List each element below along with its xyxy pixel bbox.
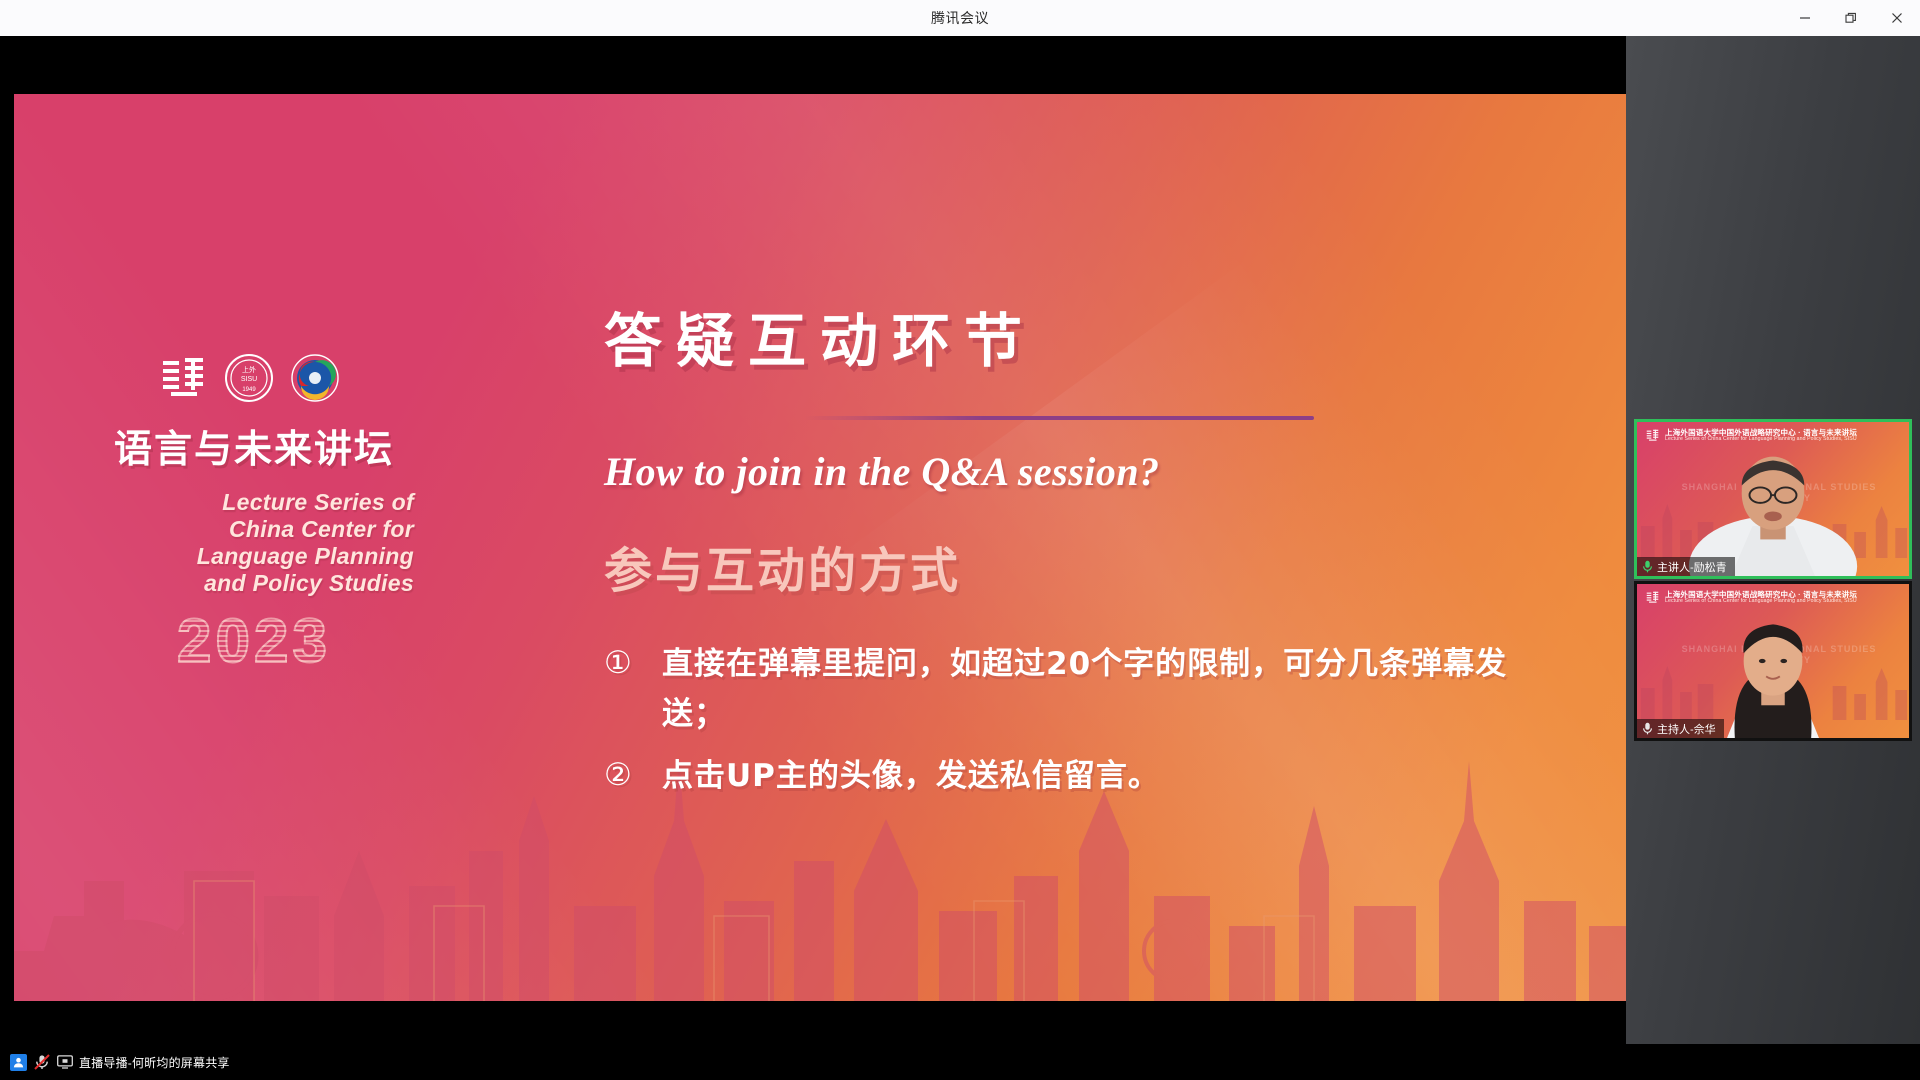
forum-title-cn: 语言与未来讲坛 (94, 418, 414, 473)
yu-seal-logo (157, 352, 209, 404)
ccpls-globe-logo (289, 352, 341, 404)
brand-logo-row: 上外 SISU 1949 (94, 352, 414, 404)
slide-divider (804, 416, 1314, 420)
window-title: 腾讯会议 (931, 8, 989, 28)
meeting-window: 腾讯会议 (0, 0, 1920, 1080)
svg-text:SISU: SISU (241, 376, 257, 383)
slide-content: 答疑互动环节 How to join in the Q&A session? 参… (604, 294, 1544, 814)
slide-subtitle-en: How to join in the Q&A session? (604, 448, 1544, 495)
participant-name-bar: 主持人-佘华 (1637, 719, 1724, 738)
forum-title-en-line: Language Planning (94, 543, 414, 570)
presentation-slide: 上外 SISU 1949 语言与未来讲坛 (14, 94, 1626, 1001)
participants-icon[interactable] (10, 1054, 27, 1071)
window-controls (1782, 0, 1920, 36)
bullet-marker: ① (604, 639, 662, 687)
forum-title-en-line: China Center for (94, 516, 414, 543)
host-video-figure (1637, 584, 1909, 738)
slide-heading: 答疑互动环节 (604, 294, 1544, 378)
speaker-video-figure (1637, 422, 1909, 576)
bullet-text: 点击UP主的头像，发送私信留言。 (662, 751, 1160, 801)
participant-name: 主讲人-励松青 (1657, 559, 1727, 575)
microphone-icon (1642, 560, 1653, 573)
shared-screen-stage[interactable]: 上外 SISU 1949 语言与未来讲坛 (0, 36, 1626, 1044)
svg-text:1949: 1949 (242, 387, 256, 393)
forum-title-en-line: Lecture Series of (94, 489, 414, 516)
participants-panel: 上海外国语大学中国外语战略研究中心 · 语言与未来讲坛 Lecture Seri… (1626, 36, 1920, 1044)
screen-share-icon[interactable] (57, 1055, 73, 1069)
slide-subtitle-cn: 参与互动的方式 (604, 531, 1544, 601)
forum-title-en: Lecture Series of China Center for Langu… (94, 489, 414, 598)
participant-video: 上海外国语大学中国外语战略研究中心 · 语言与未来讲坛 Lecture Seri… (1637, 422, 1909, 576)
slide-bullet-item: ① 直接在弹幕里提问，如超过20个字的限制，可分几条弹幕发送； (604, 639, 1544, 739)
slide-bullet-item: ② 点击UP主的头像，发送私信留言。 (604, 751, 1544, 801)
title-bar: 腾讯会议 (0, 0, 1920, 36)
mic-muted-icon[interactable] (33, 1053, 51, 1071)
minimize-button[interactable] (1782, 0, 1828, 36)
slide-bullet-list: ① 直接在弹幕里提问，如超过20个字的限制，可分几条弹幕发送； ② 点击UP主的… (604, 639, 1544, 802)
status-icon-group (10, 1053, 73, 1071)
participant-name-bar: 主讲人-励松青 (1637, 557, 1735, 576)
participant-tile[interactable]: 上海外国语大学中国外语战略研究中心 · 语言与未来讲坛 Lecture Seri… (1634, 419, 1912, 579)
screen-share-status-text: 直播导播-何昕均的屏幕共享 (79, 1054, 230, 1071)
forum-year: 2023 (94, 606, 414, 677)
microphone-icon (1642, 722, 1653, 735)
meeting-body: 上外 SISU 1949 语言与未来讲坛 (0, 36, 1920, 1080)
status-bar: 直播导播-何昕均的屏幕共享 (0, 1044, 1920, 1080)
participant-video: 上海外国语大学中国外语战略研究中心 · 语言与未来讲坛 Lecture Seri… (1637, 584, 1909, 738)
sisu-crest-logo: 上外 SISU 1949 (223, 352, 275, 404)
forum-branding: 上外 SISU 1949 语言与未来讲坛 (94, 352, 414, 677)
bullet-marker: ② (604, 751, 662, 799)
participant-tile[interactable]: 上海外国语大学中国外语战略研究中心 · 语言与未来讲坛 Lecture Seri… (1634, 581, 1912, 741)
participant-name: 主持人-佘华 (1657, 721, 1716, 737)
forum-title-en-line: and Policy Studies (94, 570, 414, 597)
restore-button[interactable] (1828, 0, 1874, 36)
svg-text:上外: 上外 (242, 365, 256, 374)
bullet-text: 直接在弹幕里提问，如超过20个字的限制，可分几条弹幕发送； (662, 639, 1544, 739)
close-button[interactable] (1874, 0, 1920, 36)
